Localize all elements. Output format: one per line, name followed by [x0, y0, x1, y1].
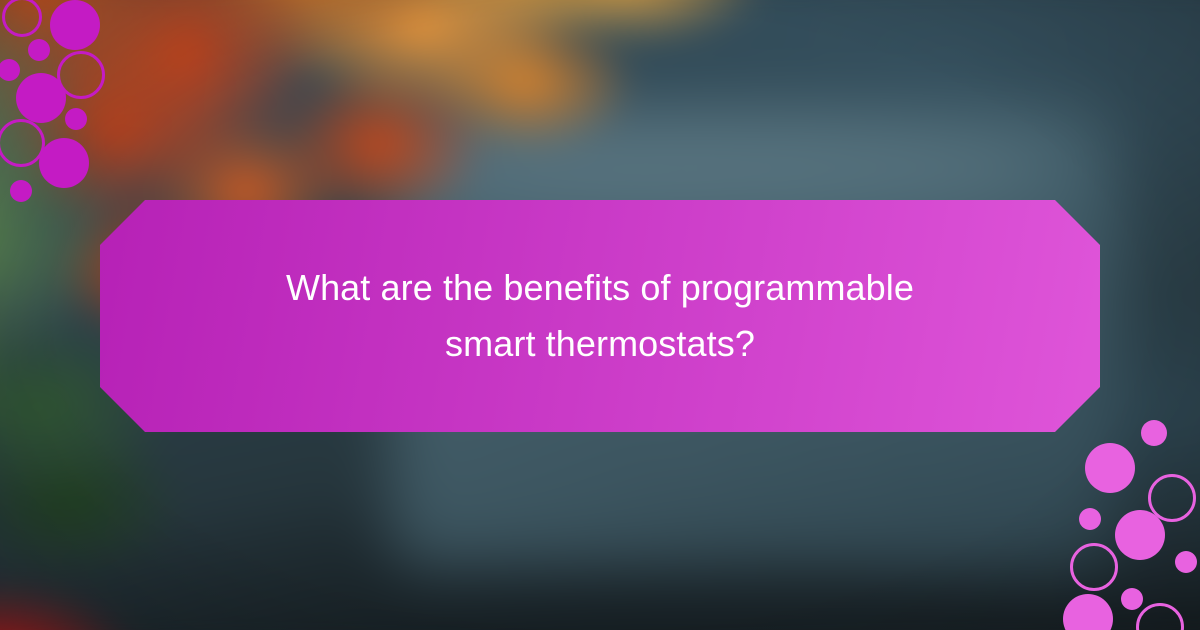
decorative-circles-bottom-right — [1070, 415, 1200, 630]
decorative-circle-filled — [10, 180, 32, 202]
decorative-circle-filled — [16, 73, 66, 123]
decorative-circle-outline — [2, 0, 42, 37]
decorative-circle-outline — [1070, 543, 1118, 591]
decorative-circle-filled — [0, 59, 20, 81]
decorative-circles-top-left — [0, 0, 140, 230]
decorative-circle-filled — [50, 0, 100, 50]
decorative-circle-filled — [1085, 443, 1135, 493]
decorative-circle-filled — [65, 108, 87, 130]
decorative-circle-filled — [1141, 420, 1167, 446]
decorative-circle-filled — [1121, 588, 1143, 610]
decorative-circle-filled — [1079, 508, 1101, 530]
question-text: What are the benefits of programmable sm… — [210, 260, 990, 372]
question-card: What are the benefits of programmable sm… — [0, 0, 1200, 630]
question-banner: What are the benefits of programmable sm… — [100, 200, 1100, 432]
decorative-circle-filled — [1115, 510, 1165, 560]
decorative-circle-filled — [1175, 551, 1197, 573]
decorative-circle-filled — [39, 138, 89, 188]
decorative-circle-filled — [1063, 594, 1113, 630]
decorative-circle-filled — [28, 39, 50, 61]
decorative-circle-outline — [1136, 603, 1184, 630]
